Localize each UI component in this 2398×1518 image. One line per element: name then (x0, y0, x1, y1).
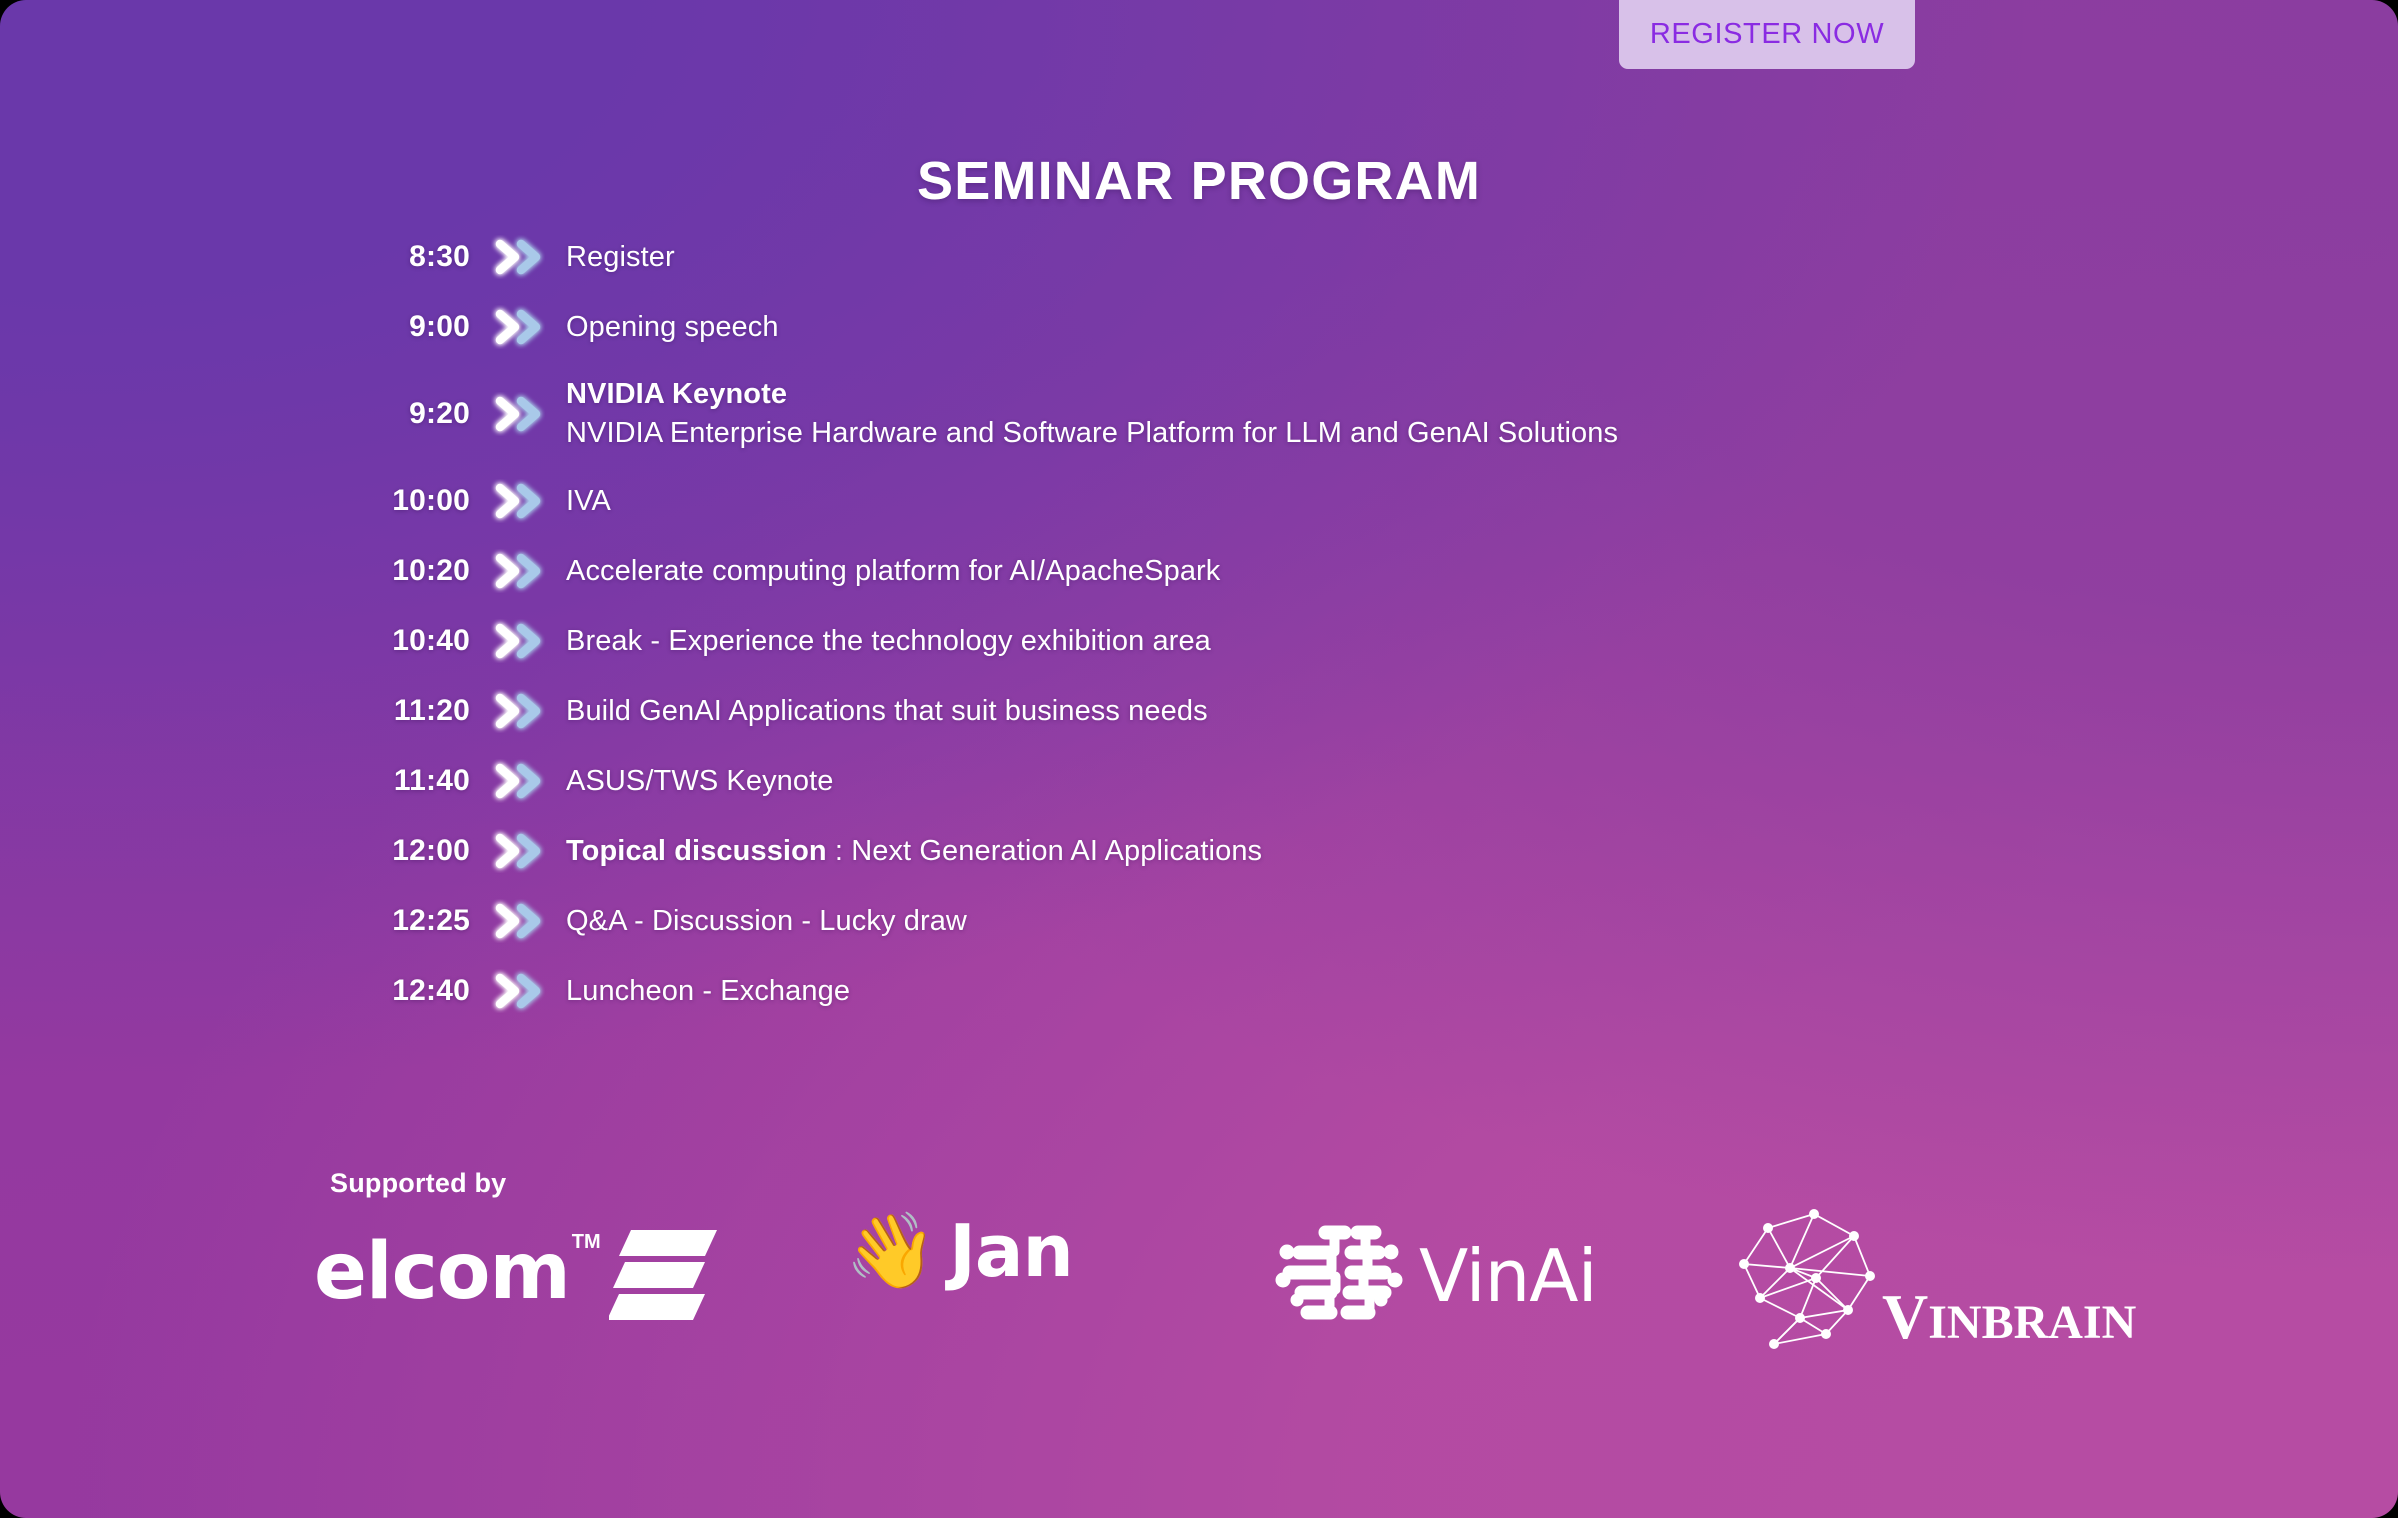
schedule-description: Luncheon - Exchange (566, 972, 2030, 1011)
schedule-description: Opening speech (566, 308, 2030, 347)
sponsor-logo-elcom[interactable]: elcom TM (314, 1222, 719, 1322)
schedule-description: Topical discussion : Next Generation AI … (566, 832, 2030, 871)
schedule-time: 10:00 (330, 484, 470, 518)
vinbrain-rest: INBRAIN (1928, 1296, 2136, 1349)
vinai-wordmark: VinAi (1419, 1240, 1597, 1312)
schedule-row: 10:40Break - Experience the technology e… (330, 606, 2030, 676)
schedule-row: 12:00Topical discussion : Next Generatio… (330, 816, 2030, 886)
schedule-bullet (470, 235, 566, 279)
schedule-time: 10:40 (330, 624, 470, 658)
schedule-bullet (470, 392, 566, 436)
register-now-button[interactable]: REGISTER NOW (1619, 0, 1915, 69)
schedule-bullet (470, 969, 566, 1013)
schedule-description: Register (566, 238, 2030, 277)
double-chevron-right-icon (491, 392, 545, 436)
schedule-bullet (470, 759, 566, 803)
double-chevron-right-icon (491, 829, 545, 873)
schedule-time: 12:40 (330, 974, 470, 1008)
schedule-text: IVA (566, 485, 611, 517)
page-title: SEMINAR PROGRAM (0, 150, 2398, 212)
elcom-e-mark-icon (609, 1222, 719, 1322)
double-chevron-right-icon (491, 235, 545, 279)
elcom-wordmark: elcom (314, 1233, 570, 1311)
double-chevron-right-icon (491, 305, 545, 349)
schedule-description: NVIDIA KeynoteNVIDIA Enterprise Hardware… (566, 375, 2030, 453)
schedule-row: 11:40ASUS/TWS Keynote (330, 746, 2030, 816)
schedule-bullet (470, 549, 566, 593)
supported-by-label: Supported by (330, 1168, 506, 1199)
schedule-time: 12:00 (330, 834, 470, 868)
schedule-description: Build GenAI Applications that suit busin… (566, 692, 2030, 731)
schedule-text: Register (566, 241, 675, 273)
seminar-program-poster: REGISTER NOW SEMINAR PROGRAM 8:30Registe… (0, 0, 2398, 1518)
vinbrain-network-brain-mark-icon (1730, 1202, 1900, 1352)
schedule-text: Q&A - Discussion - Lucky draw (566, 905, 967, 937)
schedule-time: 9:20 (330, 397, 470, 431)
schedule-subtitle: NVIDIA Enterprise Hardware and Software … (566, 414, 2030, 453)
schedule-time: 8:30 (330, 240, 470, 274)
vinbrain-initial: V (1882, 1281, 1928, 1352)
double-chevron-right-icon (491, 759, 545, 803)
schedule-row: 12:25Q&A - Discussion - Lucky draw (330, 886, 2030, 956)
schedule-description: Q&A - Discussion - Lucky draw (566, 902, 2030, 941)
schedule-text: Break - Experience the technology exhibi… (566, 625, 1211, 657)
double-chevron-right-icon (491, 969, 545, 1013)
schedule-text: Opening speech (566, 311, 779, 343)
schedule-time: 12:25 (330, 904, 470, 938)
vinbrain-wordmark: VINBRAIN (1882, 1285, 2136, 1349)
schedule-row: 10:20Accelerate computing platform for A… (330, 536, 2030, 606)
double-chevron-right-icon (491, 619, 545, 663)
schedule-bullet (470, 829, 566, 873)
schedule-bullet (470, 619, 566, 663)
schedule-bullet (470, 305, 566, 349)
schedule-text: Build GenAI Applications that suit busin… (566, 695, 1208, 727)
sponsor-logo-vinbrain[interactable]: VINBRAIN (1730, 1202, 2154, 1352)
double-chevron-right-icon (491, 549, 545, 593)
double-chevron-right-icon (491, 899, 545, 943)
schedule-description: Accelerate computing platform for AI/Apa… (566, 552, 2030, 591)
schedule-text: Accelerate computing platform for AI/Apa… (566, 555, 1220, 587)
schedule-description: Break - Experience the technology exhibi… (566, 622, 2030, 661)
schedule-bullet (470, 899, 566, 943)
schedule-list: 8:30Register9:00Opening speech9:20NVIDIA… (330, 222, 2030, 1026)
double-chevron-right-icon (491, 689, 545, 733)
schedule-text: Luncheon - Exchange (566, 975, 850, 1007)
schedule-time: 11:20 (330, 694, 470, 728)
trademark-symbol: TM (572, 1231, 601, 1254)
schedule-time: 9:00 (330, 310, 470, 344)
schedule-text: ASUS/TWS Keynote (566, 765, 834, 797)
schedule-title: NVIDIA Keynote (566, 375, 2030, 414)
schedule-row: 9:20NVIDIA KeynoteNVIDIA Enterprise Hard… (330, 362, 2030, 466)
schedule-row: 11:20Build GenAI Applications that suit … (330, 676, 2030, 746)
vinai-circuit-mark-icon (1275, 1220, 1405, 1332)
schedule-description: IVA (566, 482, 2030, 521)
double-chevron-right-icon (491, 479, 545, 523)
schedule-time: 11:40 (330, 764, 470, 798)
schedule-text: : Next Generation AI Applications (827, 835, 1262, 867)
schedule-bullet (470, 479, 566, 523)
jan-wordmark: Jan (949, 1215, 1073, 1287)
schedule-lead: Topical discussion (566, 835, 827, 867)
schedule-row: 12:40Luncheon - Exchange (330, 956, 2030, 1026)
waving-hand-icon: 👋 (845, 1214, 937, 1288)
schedule-row: 9:00Opening speech (330, 292, 2030, 362)
schedule-description: ASUS/TWS Keynote (566, 762, 2030, 801)
sponsor-logo-vinai[interactable]: VinAi (1275, 1220, 1597, 1332)
sponsor-logo-strip: elcom TM 👋 Jan (300, 1208, 2100, 1358)
schedule-time: 10:20 (330, 554, 470, 588)
schedule-row: 10:00IVA (330, 466, 2030, 536)
sponsor-logo-jan[interactable]: 👋 Jan (845, 1214, 1073, 1288)
schedule-row: 8:30Register (330, 222, 2030, 292)
schedule-bullet (470, 689, 566, 733)
